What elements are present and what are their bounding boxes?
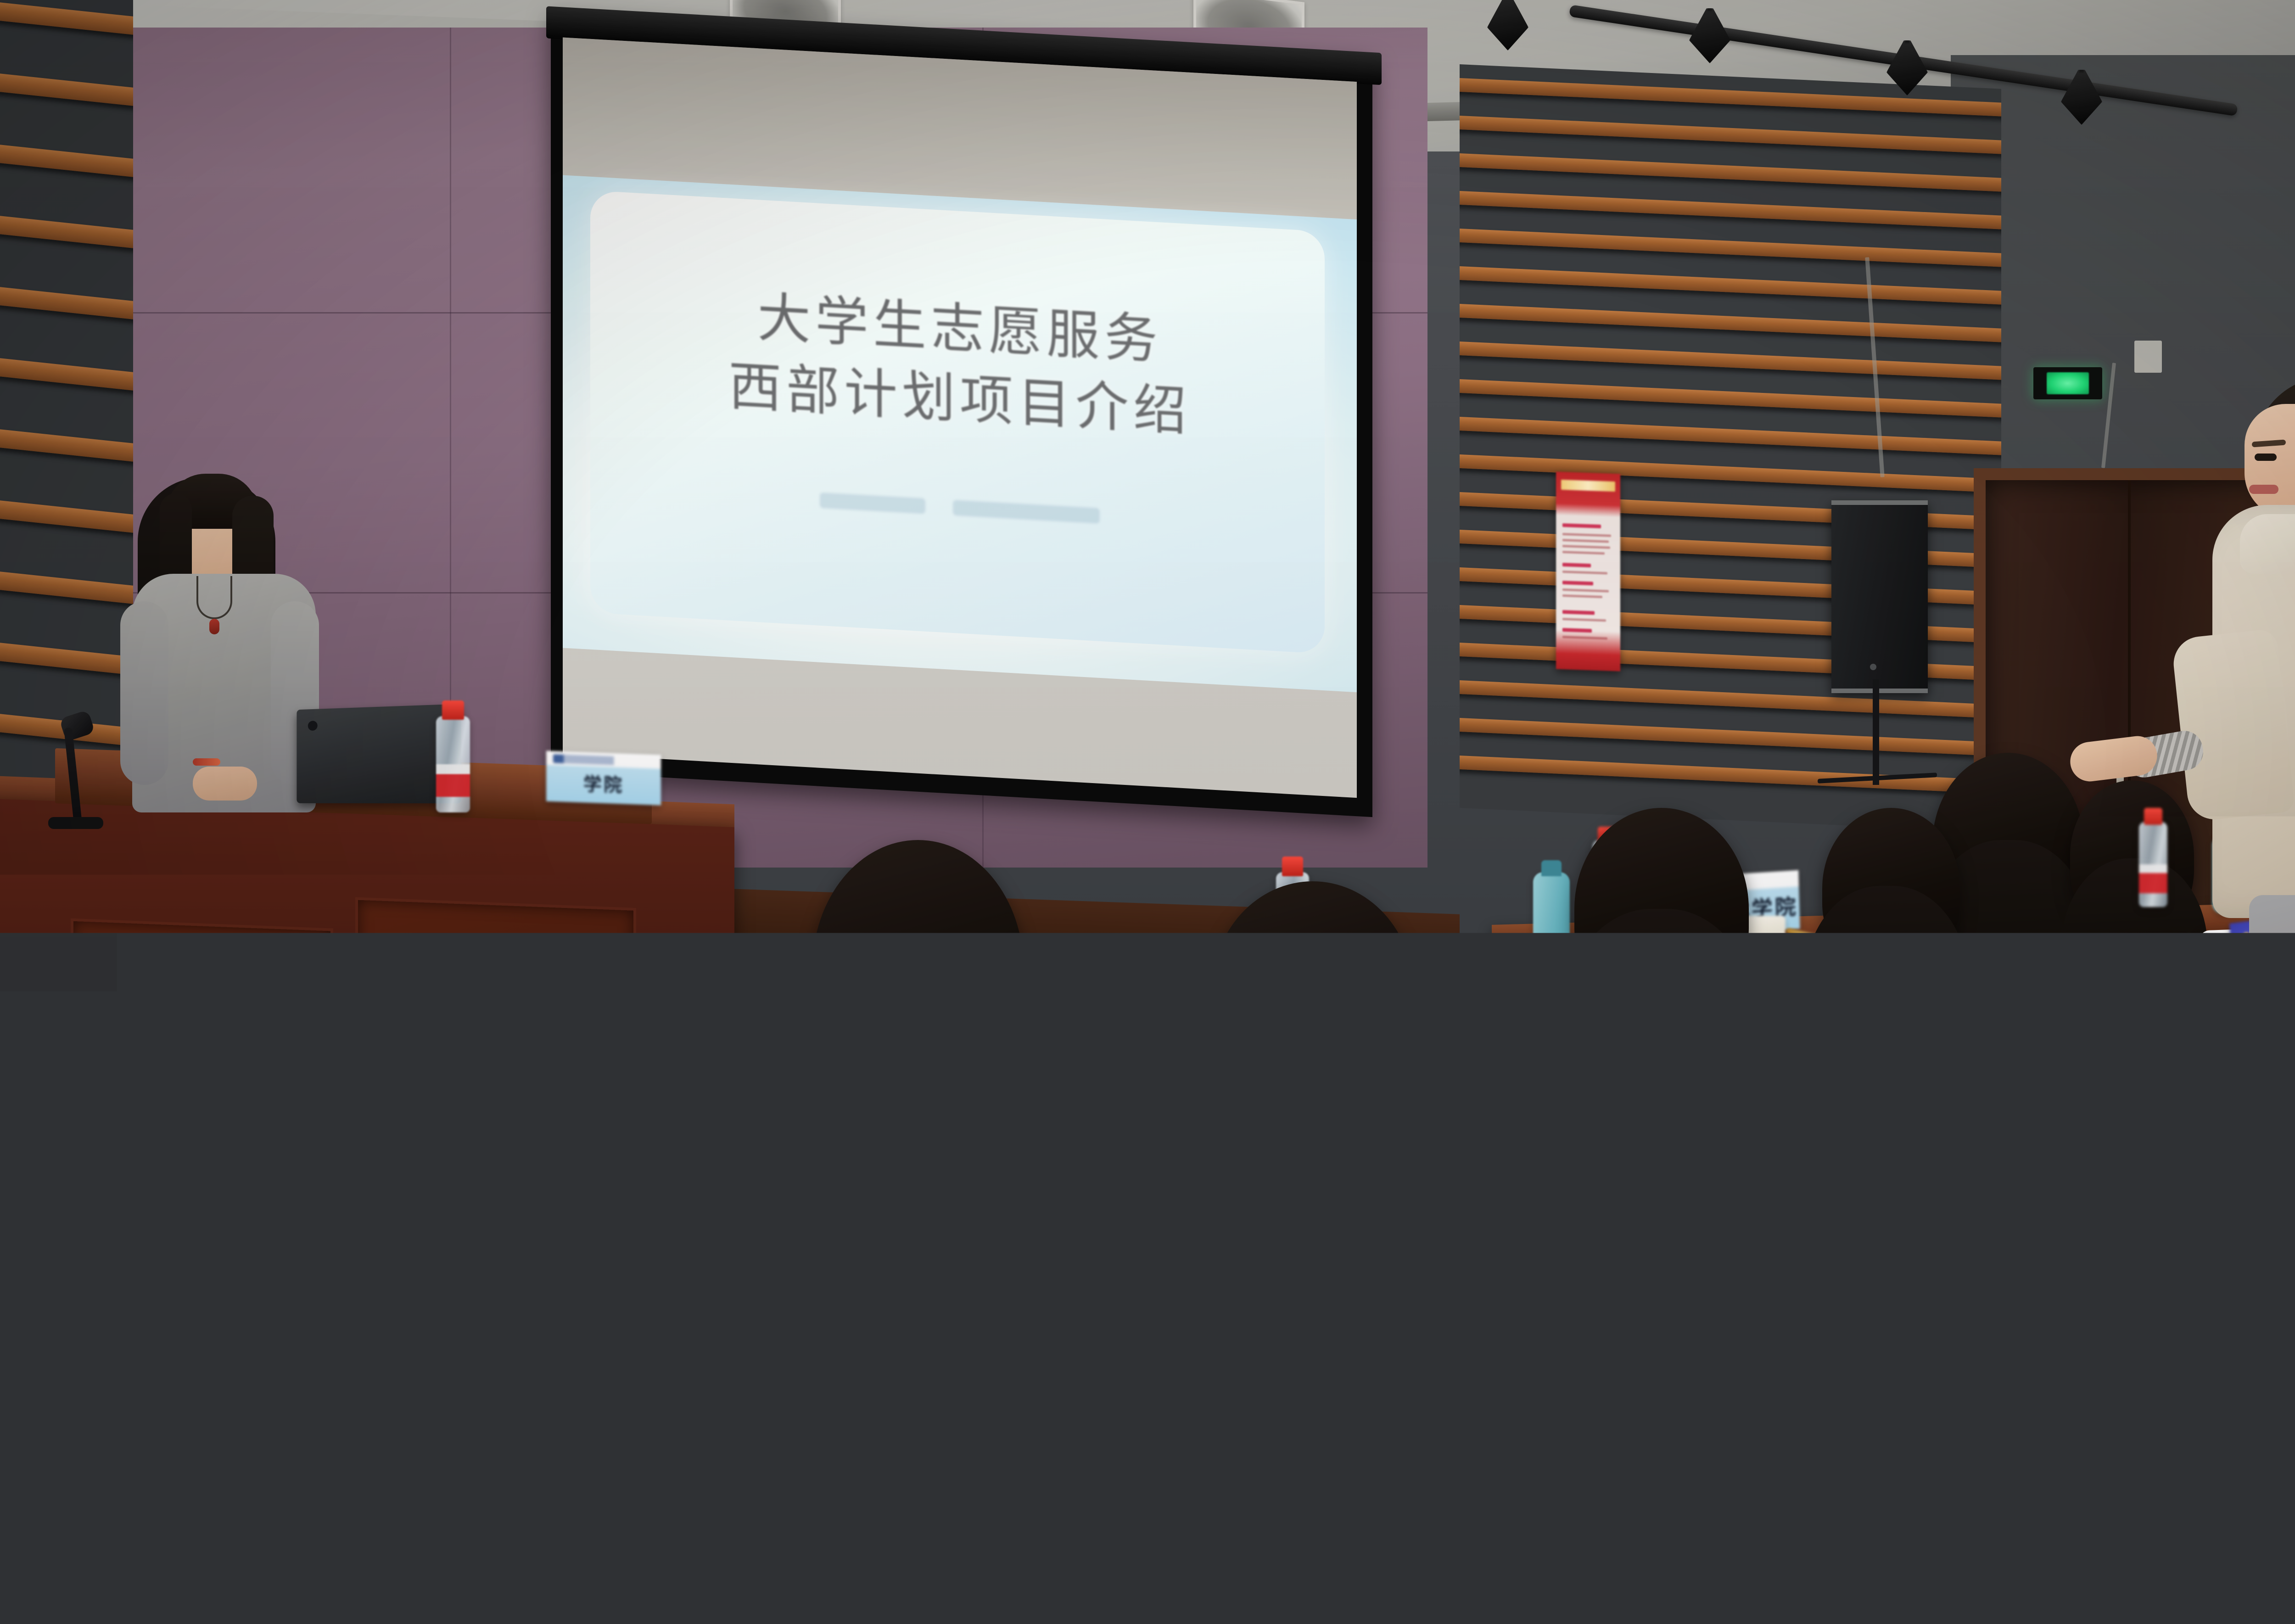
insulated-bottle [1533, 872, 1570, 971]
chair-back [1267, 1105, 1556, 1355]
youth-league-emblem-icon [1524, 1399, 1537, 1412]
projected-slide: 大学生志愿服务 西部计划项目介绍 [563, 175, 1357, 692]
left-wood-slat-wall [0, 0, 133, 822]
paper-cup [1744, 916, 1786, 944]
loudspeaker [1831, 500, 1928, 693]
chair-back [707, 1160, 1001, 1429]
exit-sign [2033, 367, 2102, 399]
water-bottle [2139, 822, 2167, 907]
brochure-logos [1524, 1393, 1565, 1413]
water-bottle [436, 716, 470, 812]
attendee-ear [2121, 1198, 2164, 1267]
screen-surface: 大学生志愿服务 西部计划项目介绍 [563, 37, 1357, 798]
attendee-hoodie [1680, 1354, 2295, 1624]
lecture-hall-photo: 大学生志愿服务 西部计划项目介绍 [0, 0, 2295, 1624]
volunteer-heart-icon [1552, 1394, 1565, 1408]
speaker-stand [1873, 679, 1879, 785]
microphone-base [48, 817, 103, 829]
name-card-label: 学院 [583, 769, 624, 804]
projection-screen: 大学生志愿服务 西部计划项目介绍 [551, 9, 1372, 817]
chair-back [987, 1133, 1281, 1392]
floor-power-outlet[interactable] [335, 1332, 390, 1390]
attendee-collar [817, 1056, 1014, 1129]
right-wood-slat-wall [1460, 64, 2001, 833]
university-seal-icon [1537, 1395, 1553, 1411]
standing-organizer [2185, 376, 2295, 1249]
attendee-ear [803, 991, 835, 1042]
wall-poster [1556, 472, 1620, 672]
wall-switch-plate[interactable] [2134, 341, 2162, 373]
table-name-card: 学院 [546, 751, 661, 806]
